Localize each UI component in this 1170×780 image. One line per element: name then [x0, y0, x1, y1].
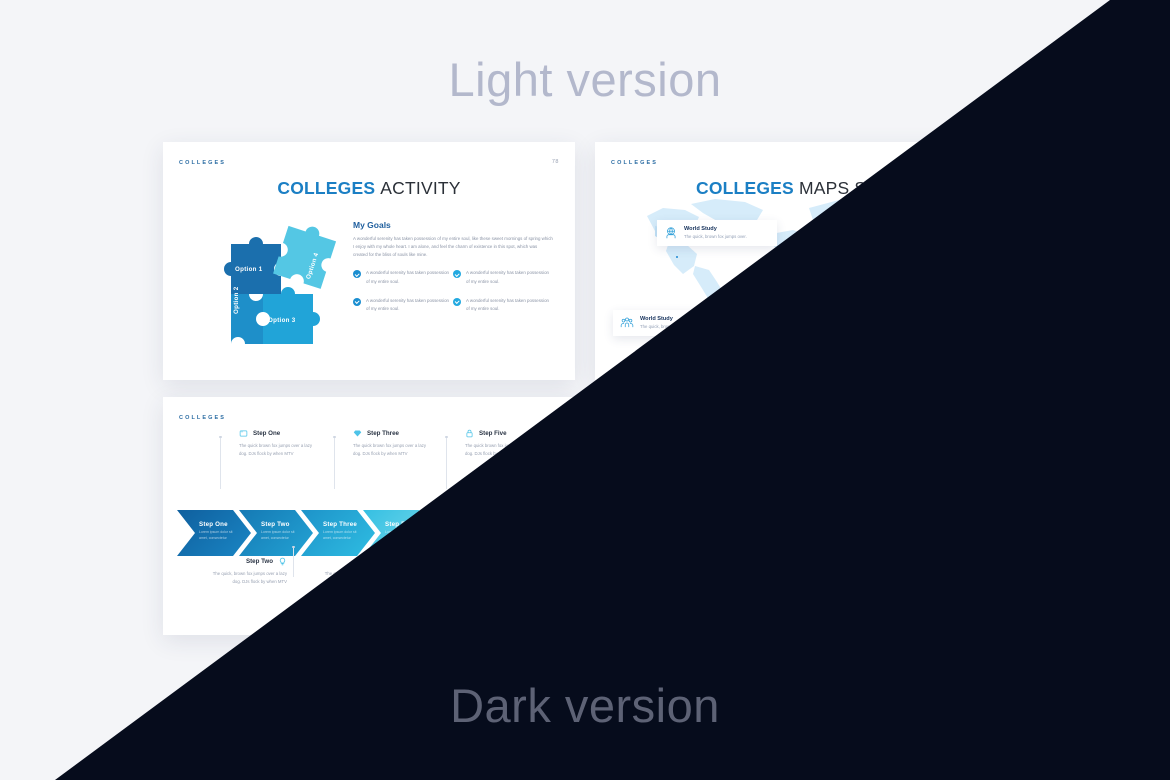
smart-education-item-05[interactable]: Smart Education 05 A wonderful serenity … — [911, 441, 997, 465]
leader-line — [334, 437, 335, 489]
check-item: A wonderful serenity has taken possessio… — [353, 297, 453, 313]
icon-circle-clock[interactable] — [947, 526, 964, 543]
check-text: A wonderful serenity has taken possessio… — [466, 269, 553, 285]
leader-line — [293, 547, 294, 577]
slide-colleges-activity[interactable]: COLLEGES 78 COLLEGES ACTIVITY — [163, 142, 575, 380]
puzzle-graphic: Option 1 Option 2 Option 3 Option 4 — [193, 214, 358, 364]
note-icon — [239, 429, 248, 438]
slide1-title: COLLEGES ACTIVITY — [163, 178, 575, 199]
puzzle-label-option1: Option 1 — [235, 266, 263, 273]
globe-network-icon — [828, 238, 842, 252]
arrow-sub: Lorem ipsum dolor sit amet, consectetur — [199, 530, 241, 541]
arrow-sub: Lorem ipsum dolor sit amet, consectetur — [509, 530, 551, 541]
map-card-world-study[interactable]: World Study The quick, brown fox jumps o… — [613, 310, 733, 336]
item-text: A wonderful serenity has taken possessio… — [911, 450, 997, 465]
leader-line — [405, 547, 406, 577]
globe-people-icon — [664, 226, 678, 240]
step-title: Step Two — [246, 558, 273, 565]
item-text: A wonderful serenity has taken possessio… — [825, 450, 911, 465]
check-item: A wonderful serenity has taken possessio… — [453, 269, 553, 285]
step-title: Step Six — [473, 558, 497, 565]
icon-circle-rocket[interactable] — [762, 526, 779, 543]
map-card-text: The quick, brown fox jumps over. — [822, 336, 885, 342]
step-title: Step Five — [479, 430, 507, 437]
my-goals-block: My Goals A wonderful serenity has taken … — [353, 220, 553, 324]
headline-line-4: SMART — [617, 508, 722, 528]
globe-icon — [802, 328, 816, 342]
my-goals-paragraph: A wonderful serenity has taken possessio… — [353, 235, 553, 259]
smart-education-item-03[interactable]: Smart Education 03 A wonderful serenity … — [825, 441, 911, 465]
pencil-icon — [390, 557, 399, 566]
lock-icon — [465, 429, 474, 438]
check-text: A wonderful serenity has taken possessio… — [466, 297, 553, 313]
map-card-text: The quick, brown fox jumps over. — [684, 234, 747, 240]
smart-education-item-04[interactable]: Smart Education 04 A wonderful serenity … — [869, 561, 955, 585]
slide2-title-blue: COLLEGES — [696, 178, 794, 198]
rocket-icon — [767, 531, 775, 539]
arrow-label: Step Four — [385, 521, 437, 528]
slide2-brand-logo: COLLEGES — [611, 160, 658, 166]
step-callout-four[interactable]: Step Four The quick, brown fox jumps ove… — [317, 557, 399, 585]
dark-version-heading: Dark version — [0, 678, 1170, 733]
step-callout-five[interactable]: Step Five The quick brown fox jumps over… — [465, 429, 547, 457]
headline-line-2: THINK — [617, 469, 722, 489]
slide1-brand-logo: COLLEGES — [179, 160, 226, 166]
people-group-icon — [620, 316, 634, 330]
check-icon — [353, 270, 361, 278]
step-text: The quick, brown fox jumps over a lazy d… — [429, 570, 511, 585]
arrow-label: Step One — [199, 521, 251, 528]
map-card-title: World Study — [848, 238, 911, 244]
headline-description: A wonderful serenity has taken possessio… — [617, 538, 722, 564]
slide3-page-number: 53 — [552, 414, 559, 420]
monitor-icon — [502, 557, 511, 566]
pencil-icon — [819, 531, 827, 539]
slide3-brand-logo: COLLEGES — [179, 415, 226, 421]
arrow-sub: Lorem ipsum dolor sit amet, consectetur — [261, 530, 303, 541]
icon-circle-pencil[interactable] — [814, 526, 831, 543]
map-card-title: World Study — [684, 226, 747, 232]
step-text: The quick brown fox jumps over a lazy do… — [465, 442, 547, 457]
headline-line-3: BETTER — [617, 489, 722, 509]
arrow-label: Step Two — [261, 521, 313, 528]
step-callout-six[interactable]: Step Six The quick, brown fox jumps over… — [429, 557, 511, 585]
item-title: Smart Education 04 — [869, 561, 955, 567]
user-icon — [916, 531, 924, 539]
arrow-label: Step Three — [323, 521, 375, 528]
step-title: Step Four — [356, 558, 385, 565]
step-text: The quick, brown fox jumps over a lazy d… — [205, 570, 287, 585]
item-title: Smart Education 02 — [777, 561, 863, 567]
icon-circle-user[interactable] — [911, 526, 928, 543]
check-item: A wonderful serenity has taken possessio… — [453, 297, 553, 313]
arrow-sub: Lorem ipsum dolor sit amet, consectetur — [385, 530, 427, 541]
item-text: A wonderful serenity has taken possessio… — [869, 570, 955, 585]
map-card-world-study[interactable]: World Study The quick, brown fox jumps o… — [657, 220, 777, 246]
check-text: A wonderful serenity has taken possessio… — [366, 269, 453, 285]
check-icon — [453, 298, 461, 306]
item-title: Smart Education 03 — [825, 441, 911, 447]
step-text: The quick brown fox jumps over a lazy do… — [239, 442, 321, 457]
poster-canvas: Light version COLLEGES 78 COLLEGES ACTIV… — [0, 0, 1170, 780]
briefcase-icon — [871, 531, 879, 539]
light-version-heading: Light version — [0, 52, 1170, 107]
check-icon — [453, 270, 461, 278]
process-arrow[interactable]: Step One Lorem ipsum dolor sit amet, con… — [177, 510, 251, 556]
smart-education-item-01[interactable]: Smart Education 01 A wonderful serenity … — [729, 441, 815, 465]
bulb-icon — [278, 557, 287, 566]
step-text: The quick, brown fox jumps over a lazy d… — [317, 570, 399, 585]
slide2-page-number: 61 — [984, 159, 991, 165]
slide4-page-number: 56 — [984, 414, 991, 420]
puzzle-label-option3: Option 3 — [268, 317, 296, 324]
check-icon — [353, 298, 361, 306]
item-title: Smart Education 01 — [729, 441, 815, 447]
map-card-world-study[interactable]: World Study The quick, brown fox jumps o… — [795, 322, 915, 348]
step-callout-one[interactable]: Step One The quick brown fox jumps over … — [239, 429, 321, 457]
slide1-title-dark: ACTIVITY — [380, 178, 460, 198]
leader-line — [446, 437, 447, 489]
slide2-title: COLLEGES MAPS SLIDE — [595, 178, 1007, 199]
headline-line-1: BETTER — [617, 449, 722, 469]
map-card-world-study[interactable]: World Study The quick, brown fox jumps o… — [821, 232, 941, 258]
icon-circle-briefcase[interactable] — [866, 526, 883, 543]
slide2-title-dark: MAPS SLIDE — [799, 178, 906, 198]
slide1-title-blue: COLLEGES — [277, 178, 375, 198]
puzzle-label-option2: Option 2 — [233, 287, 240, 315]
dark-version-overlay — [0, 0, 1170, 780]
check-item: A wonderful serenity has taken possessio… — [353, 269, 453, 285]
item-text: A wonderful serenity has taken possessio… — [777, 570, 863, 585]
leader-line — [517, 547, 518, 577]
arrow-sub: Lorem ipsum dolor sit amet, consectetur — [447, 530, 489, 541]
map-card-title: World Study — [640, 316, 703, 322]
slide-colleges-maps[interactable]: COLLEGES 61 COLLEGES MAPS SLIDE World St… — [595, 142, 1007, 380]
slide1-page-number: 78 — [552, 159, 559, 165]
item-text: A wonderful serenity has taken possessio… — [729, 450, 815, 465]
clock-icon — [952, 531, 960, 539]
leader-line — [220, 437, 221, 489]
headline-block: BETTER THINK BETTER SMART A wonderful se… — [617, 449, 722, 564]
map-card-text: The quick, brown fox jumps over. — [640, 324, 703, 330]
diamond-icon — [353, 429, 362, 438]
step-text: The quick brown fox jumps over a lazy do… — [353, 442, 435, 457]
step-title: Step One — [253, 430, 280, 437]
step-title: Step Three — [367, 430, 399, 437]
puzzle-piece-option3 — [263, 287, 320, 344]
check-text: A wonderful serenity has taken possessio… — [366, 297, 453, 313]
item-title: Smart Education 05 — [911, 441, 997, 447]
process-arrow-chain: Step One Lorem ipsum dolor sit amet, con… — [177, 510, 567, 556]
map-card-text: The quick, brown fox jumps over. — [848, 246, 911, 252]
arrow-label: Step Six — [509, 521, 561, 528]
slide4-brand-logo: COLLEGES — [611, 415, 658, 421]
slide-better-think-smart[interactable]: COLLEGES 56 BETTER THINK BETTER SMART A … — [595, 397, 1007, 635]
my-goals-heading: My Goals — [353, 220, 553, 230]
arrow-label: Step Five — [447, 521, 499, 528]
check-list: A wonderful serenity has taken possessio… — [353, 269, 553, 324]
smart-education-item-02[interactable]: Smart Education 02 A wonderful serenity … — [777, 561, 863, 585]
slide-steps-process[interactable]: COLLEGES 53 Step One The quick brown fox… — [163, 397, 575, 635]
step-callout-two[interactable]: Step Two The quick, brown fox jumps over… — [205, 557, 287, 585]
arrow-sub: Lorem ipsum dolor sit amet, consectetur — [323, 530, 365, 541]
map-card-title: World Study — [822, 328, 885, 334]
step-callout-three[interactable]: Step Three The quick brown fox jumps ove… — [353, 429, 435, 457]
